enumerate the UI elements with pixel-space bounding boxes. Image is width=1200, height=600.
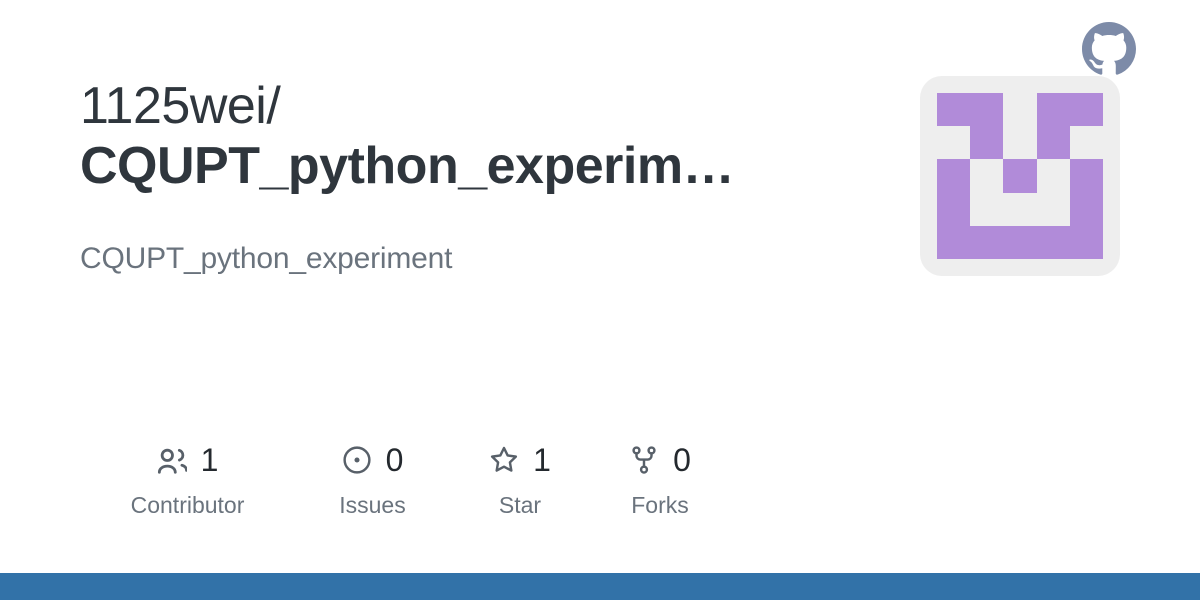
identicon-cell-3-2 bbox=[1003, 193, 1036, 226]
stat-count: 0 bbox=[386, 444, 404, 476]
identicon-cell-4-1 bbox=[970, 226, 1003, 259]
identicon-cell-1-1 bbox=[970, 126, 1003, 159]
stat-label: Forks bbox=[631, 494, 689, 517]
stat-contributor[interactable]: 1Contributor bbox=[80, 440, 295, 517]
identicon-cell-4-3 bbox=[1037, 226, 1070, 259]
identicon-cell-2-3 bbox=[1037, 159, 1070, 192]
accent-bar bbox=[0, 573, 1200, 600]
identicon-cell-1-2 bbox=[1003, 126, 1036, 159]
identicon-cell-0-2 bbox=[1003, 93, 1036, 126]
stat-label: Star bbox=[499, 494, 541, 517]
identicon-cell-0-4 bbox=[1070, 93, 1103, 126]
stat-forks[interactable]: 0Forks bbox=[590, 440, 730, 517]
identicon-cell-1-3 bbox=[1037, 126, 1070, 159]
stat-label: Contributor bbox=[131, 494, 245, 517]
title-block: 1125wei/ CQUPT_python_experim… CQUPT_pyt… bbox=[80, 76, 734, 278]
identicon-cell-4-0 bbox=[937, 226, 970, 259]
github-octocat-icon bbox=[1082, 22, 1136, 76]
identicon-cell-1-4 bbox=[1070, 126, 1103, 159]
identicon-cell-0-3 bbox=[1037, 93, 1070, 126]
identicon-cell-3-0 bbox=[937, 193, 970, 226]
identicon-cell-2-0 bbox=[937, 159, 970, 192]
header-region: 1125wei/ CQUPT_python_experim… CQUPT_pyt… bbox=[0, 0, 1200, 278]
stat-value-row: 0 bbox=[342, 440, 404, 480]
identicon-cell-1-0 bbox=[937, 126, 970, 159]
stat-value-row: 0 bbox=[629, 440, 691, 480]
repo-forked-icon bbox=[629, 445, 659, 475]
stat-value-row: 1 bbox=[489, 440, 551, 480]
stat-star[interactable]: 1Star bbox=[450, 440, 590, 517]
repository-name: CQUPT_python_experim… bbox=[80, 136, 734, 196]
identicon-cell-4-4 bbox=[1070, 226, 1103, 259]
identicon-cell-0-1 bbox=[970, 93, 1003, 126]
identicon-cell-0-0 bbox=[937, 93, 970, 126]
repository-social-preview-card: 1125wei/ CQUPT_python_experim… CQUPT_pyt… bbox=[0, 0, 1200, 600]
repository-stats: 1Contributor0Issues1Star0Forks bbox=[80, 440, 1136, 517]
stat-label: Issues bbox=[339, 494, 405, 517]
stat-count: 1 bbox=[533, 444, 551, 476]
stat-issues[interactable]: 0Issues bbox=[295, 440, 450, 517]
identicon-cell-3-1 bbox=[970, 193, 1003, 226]
identicon-cell-2-2 bbox=[1003, 159, 1036, 192]
stat-count: 0 bbox=[673, 444, 691, 476]
identicon-cell-4-2 bbox=[1003, 226, 1036, 259]
identicon-cell-3-3 bbox=[1037, 193, 1070, 226]
stat-count: 1 bbox=[201, 444, 219, 476]
identicon-cell-2-4 bbox=[1070, 159, 1103, 192]
owner-avatar bbox=[920, 76, 1120, 276]
stats-list: 1Contributor0Issues1Star0Forks bbox=[80, 440, 730, 517]
issue-opened-icon bbox=[342, 445, 372, 475]
stat-value-row: 1 bbox=[157, 440, 219, 480]
people-icon bbox=[157, 445, 187, 475]
repository-owner: 1125wei/ bbox=[80, 76, 734, 136]
star-icon bbox=[489, 445, 519, 475]
repository-description: CQUPT_python_experiment bbox=[80, 239, 734, 278]
identicon-cell-2-1 bbox=[970, 159, 1003, 192]
identicon-cell-3-4 bbox=[1070, 193, 1103, 226]
identicon-avatar-icon bbox=[937, 93, 1103, 259]
